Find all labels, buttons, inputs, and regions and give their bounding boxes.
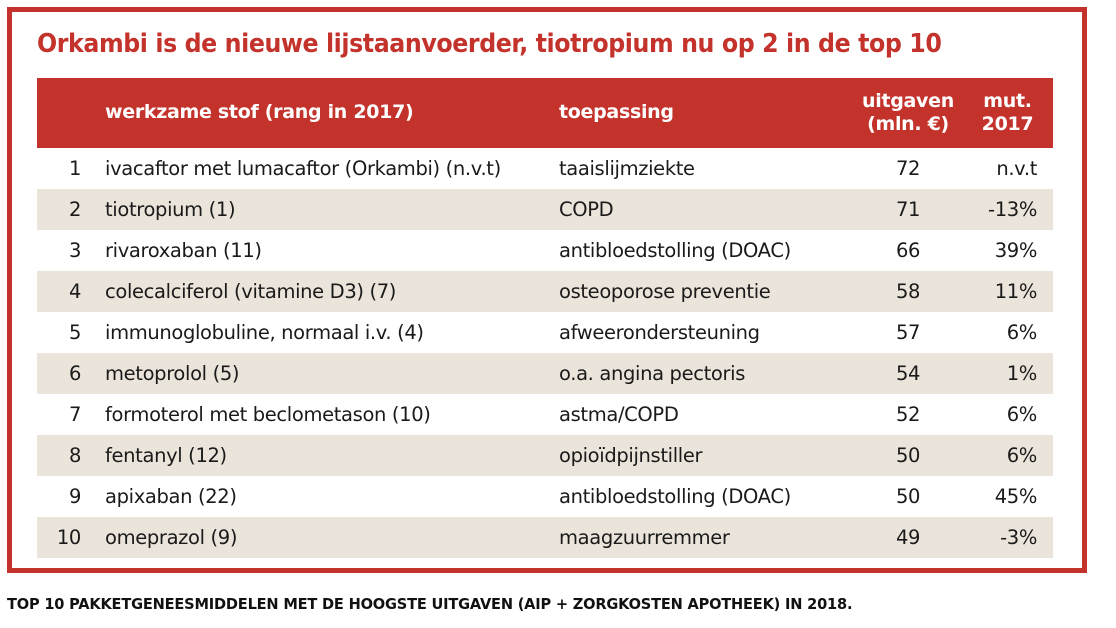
cell-expenditure: 58 — [850, 271, 968, 312]
cell-expenditure: 66 — [850, 230, 968, 271]
cell-expenditure: 57 — [850, 312, 968, 353]
column-header-expenditure-line2: (mln. €) — [850, 113, 966, 136]
cell-expenditure: 49 — [850, 517, 968, 558]
cell-application: antibloedstolling (DOAC) — [550, 230, 850, 271]
cell-expenditure: 52 — [850, 394, 968, 435]
cell-application: antibloedstolling (DOAC) — [550, 476, 850, 517]
cell-application: o.a. angina pectoris — [550, 353, 850, 394]
cell-substance: ivacaftor met lumacaftor (Orkambi) (n.v.… — [95, 148, 550, 189]
cell-substance: metoprolol (5) — [95, 353, 550, 394]
cell-rank: 8 — [37, 435, 95, 476]
cell-rank: 7 — [37, 394, 95, 435]
table-row: 9apixaban (22)antibloedstolling (DOAC)50… — [37, 476, 1053, 517]
cell-rank: 6 — [37, 353, 95, 394]
figure-caption: TOP 10 PAKKETGENEESMIDDELEN MET DE HOOGS… — [7, 595, 1032, 613]
table-row: 2tiotropium (1)COPD71-13% — [37, 189, 1053, 230]
column-header-mutation-line2: 2017 — [968, 113, 1047, 136]
table-header-row: werkzame stof (rang in 2017) toepassing … — [37, 78, 1053, 148]
cell-mutation: -13% — [968, 189, 1053, 230]
table-row: 6metoprolol (5)o.a. angina pectoris541% — [37, 353, 1053, 394]
column-header-application: toepassing — [550, 78, 850, 148]
table-container: werkzame stof (rang in 2017) toepassing … — [37, 78, 1053, 558]
table-row: 1ivacaftor met lumacaftor (Orkambi) (n.v… — [37, 148, 1053, 189]
table-row: 5immunoglobuline, normaal i.v. (4)afweer… — [37, 312, 1053, 353]
cell-mutation: 45% — [968, 476, 1053, 517]
cell-application: taaislijmziekte — [550, 148, 850, 189]
column-header-mutation-line1: mut. — [968, 90, 1047, 113]
cell-application: afweerondersteuning — [550, 312, 850, 353]
top10-table: werkzame stof (rang in 2017) toepassing … — [37, 78, 1053, 558]
cell-rank: 2 — [37, 189, 95, 230]
cell-rank: 4 — [37, 271, 95, 312]
column-header-mutation: mut. 2017 — [968, 78, 1053, 148]
cell-rank: 1 — [37, 148, 95, 189]
cell-substance: rivaroxaban (11) — [95, 230, 550, 271]
table-card: Orkambi is de nieuwe lijstaanvoerder, ti… — [7, 7, 1087, 573]
cell-rank: 9 — [37, 476, 95, 517]
column-header-expenditure-line1: uitgaven — [850, 90, 966, 113]
cell-expenditure: 50 — [850, 476, 968, 517]
table-row: 4colecalciferol (vitamine D3) (7)osteopo… — [37, 271, 1053, 312]
cell-mutation: 6% — [968, 312, 1053, 353]
cell-application: osteoporose preventie — [550, 271, 850, 312]
cell-substance: apixaban (22) — [95, 476, 550, 517]
cell-substance: immunoglobuline, normaal i.v. (4) — [95, 312, 550, 353]
cell-mutation: 1% — [968, 353, 1053, 394]
table-body: 1ivacaftor met lumacaftor (Orkambi) (n.v… — [37, 148, 1053, 558]
cell-rank: 3 — [37, 230, 95, 271]
cell-mutation: n.v.t — [968, 148, 1053, 189]
cell-mutation: 6% — [968, 435, 1053, 476]
cell-substance: omeprazol (9) — [95, 517, 550, 558]
column-header-substance: werkzame stof (rang in 2017) — [95, 78, 550, 148]
cell-expenditure: 71 — [850, 189, 968, 230]
cell-mutation: -3% — [968, 517, 1053, 558]
page-root: Orkambi is de nieuwe lijstaanvoerder, ti… — [0, 0, 1116, 628]
cell-substance: fentanyl (12) — [95, 435, 550, 476]
cell-substance: formoterol met beclometason (10) — [95, 394, 550, 435]
cell-substance: tiotropium (1) — [95, 189, 550, 230]
cell-rank: 5 — [37, 312, 95, 353]
table-row: 10omeprazol (9)maagzuurremmer49-3% — [37, 517, 1053, 558]
cell-expenditure: 50 — [850, 435, 968, 476]
cell-mutation: 39% — [968, 230, 1053, 271]
cell-application: opioïdpijnstiller — [550, 435, 850, 476]
table-row: 8fentanyl (12)opioïdpijnstiller506% — [37, 435, 1053, 476]
column-header-rank — [37, 78, 95, 148]
table-row: 3rivaroxaban (11)antibloedstolling (DOAC… — [37, 230, 1053, 271]
table-header: werkzame stof (rang in 2017) toepassing … — [37, 78, 1053, 148]
cell-rank: 10 — [37, 517, 95, 558]
table-row: 7formoterol met beclometason (10)astma/C… — [37, 394, 1053, 435]
cell-substance: colecalciferol (vitamine D3) (7) — [95, 271, 550, 312]
cell-application: astma/COPD — [550, 394, 850, 435]
column-header-expenditure: uitgaven (mln. €) — [850, 78, 968, 148]
cell-expenditure: 72 — [850, 148, 968, 189]
cell-expenditure: 54 — [850, 353, 968, 394]
cell-mutation: 6% — [968, 394, 1053, 435]
page-title: Orkambi is de nieuwe lijstaanvoerder, ti… — [37, 30, 990, 58]
cell-mutation: 11% — [968, 271, 1053, 312]
cell-application: maagzuurremmer — [550, 517, 850, 558]
cell-application: COPD — [550, 189, 850, 230]
